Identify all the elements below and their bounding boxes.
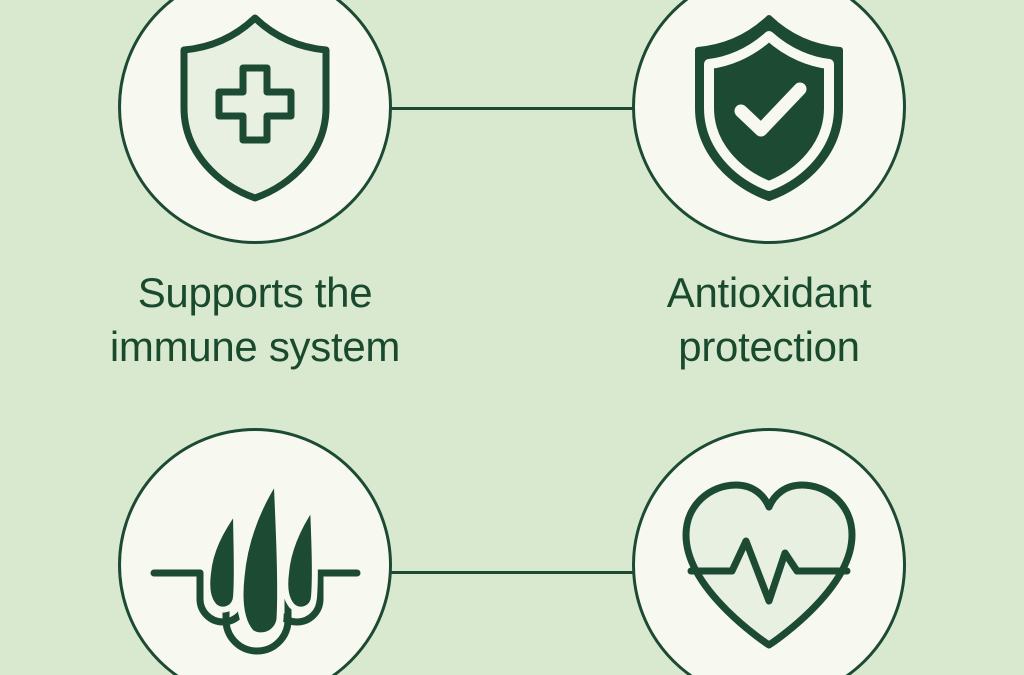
benefit-item-antioxidant: Antioxidant protection bbox=[632, 0, 906, 374]
benefits-infographic: Supports the immune system Antioxidant p… bbox=[0, 0, 1024, 675]
benefit-item-immune: Supports the immune system bbox=[118, 0, 392, 374]
benefit-caption-antioxidant: Antioxidant protection bbox=[599, 266, 939, 374]
benefit-caption-immune: Supports the immune system bbox=[85, 266, 425, 374]
icon-circle-heart bbox=[632, 428, 906, 675]
shield-check-icon bbox=[684, 10, 854, 205]
caption-line-1: Antioxidant bbox=[667, 269, 872, 316]
hair-follicles-icon bbox=[148, 465, 363, 665]
icon-circle-immune bbox=[118, 0, 392, 244]
caption-line-1: Supports the bbox=[138, 269, 373, 316]
heart-pulse-icon bbox=[674, 473, 864, 658]
icon-circle-hair bbox=[118, 428, 392, 675]
caption-line-2: protection bbox=[678, 323, 859, 370]
caption-line-2: immune system bbox=[110, 323, 400, 370]
benefit-item-heart bbox=[632, 428, 906, 675]
benefit-item-hair bbox=[118, 428, 392, 675]
connector-line-bottom bbox=[390, 571, 634, 574]
connector-line-top bbox=[390, 107, 634, 110]
icon-circle-antioxidant bbox=[632, 0, 906, 244]
shield-cross-icon bbox=[170, 10, 340, 205]
